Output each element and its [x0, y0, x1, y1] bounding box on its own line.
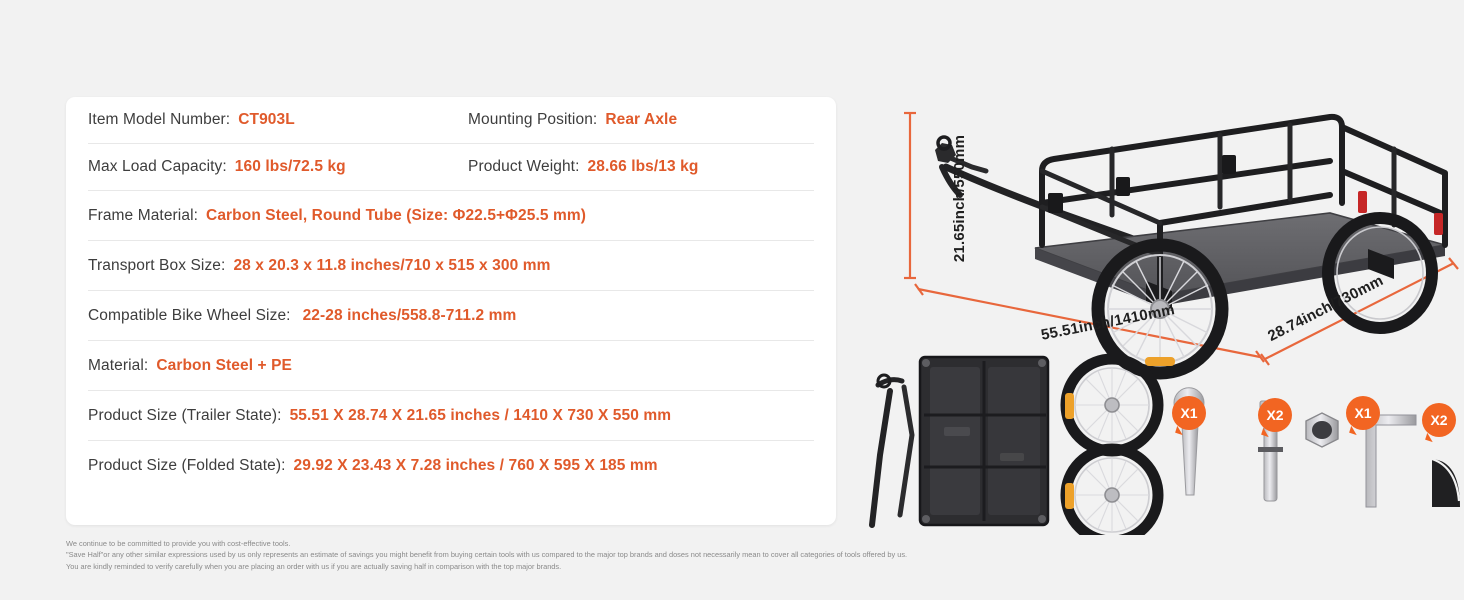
spec-row-product-size-folded-state: Product Size (Folded State): 29.92 X 23.…: [88, 441, 814, 490]
spec-row-compatible-bike-wheel-size: Compatible Bike Wheel Size: 22-28 inches…: [88, 291, 814, 341]
spec-row-dual: Max Load Capacity: 160 lbs/72.5 kg Produ…: [88, 144, 814, 191]
quantity-badge-mudguard: X2: [1422, 403, 1456, 437]
specification-card: Item Model Number: CT903L Mounting Posit…: [66, 97, 836, 525]
spec-row-product-size-trailer-state: Product Size (Trailer State): 55.51 X 28…: [88, 391, 814, 441]
spec-label: Item Model Number:: [88, 111, 230, 129]
reflector-amber: [1145, 357, 1175, 366]
spec-cell-product-weight: Product Weight: 28.66 lbs/13 kg: [456, 144, 814, 191]
spec-row-dual: Item Model Number: CT903L Mounting Posit…: [88, 97, 814, 144]
spec-cell-item-model-number: Item Model Number: CT903L: [88, 97, 456, 144]
spec-cell-mounting-position: Mounting Position: Rear Axle: [456, 97, 814, 144]
accessory-mudguard: [1432, 459, 1460, 507]
folded-trailer: [872, 357, 1048, 525]
spec-label: Product Weight:: [468, 158, 580, 176]
disclaimer-line-3: You are kindly reminded to verify carefu…: [66, 561, 1406, 572]
spare-wheel-top: [1065, 359, 1158, 451]
reflector-red: [1358, 191, 1367, 213]
spec-value: CT903L: [238, 111, 295, 129]
disclaimer: We continue to be committed to provide y…: [66, 538, 1406, 572]
spec-label: Material:: [88, 357, 148, 375]
quantity-badge-hex-key: X1: [1346, 396, 1380, 430]
spec-value: 28 x 20.3 x 11.8 inches/710 x 515 x 300 …: [233, 257, 550, 275]
quantity-badge-bolt-and-nut: X2: [1258, 398, 1292, 432]
accessory-hex-key: [1366, 415, 1416, 507]
reflector-red: [1434, 213, 1443, 235]
spec-label: Frame Material:: [88, 207, 198, 225]
frame-bracket: [1116, 177, 1130, 196]
spec-value: Carbon Steel + PE: [156, 357, 292, 375]
spec-value: 160 lbs/72.5 kg: [235, 158, 346, 176]
spec-label: Max Load Capacity:: [88, 158, 227, 176]
spec-value: Rear Axle: [605, 111, 677, 129]
quantity-badge-wrench: X1: [1172, 396, 1206, 430]
dimension-label-height: 21.65inch/550mm: [951, 135, 968, 262]
folded-latch: [944, 427, 970, 436]
spec-row-transport-box-size: Transport Box Size: 28 x 20.3 x 11.8 inc…: [88, 241, 814, 291]
frame-bracket: [1048, 193, 1063, 213]
disclaimer-line-1: We continue to be committed to provide y…: [66, 538, 1406, 549]
spec-label: Product Size (Trailer State):: [88, 407, 282, 425]
spec-cell-max-load-capacity: Max Load Capacity: 160 lbs/72.5 kg: [88, 144, 456, 191]
spec-label: Transport Box Size:: [88, 257, 225, 275]
frame-bracket: [1222, 155, 1236, 174]
spec-row-frame-material: Frame Material: Carbon Steel, Round Tube…: [88, 191, 814, 241]
product-spec-page: Item Model Number: CT903L Mounting Posit…: [0, 0, 1464, 600]
dimension-arrow-height: [904, 113, 916, 278]
spec-value: 28.66 lbs/13 kg: [588, 158, 699, 176]
spec-value: 29.92 X 23.43 X 7.28 inches / 760 X 595 …: [294, 457, 658, 475]
spec-row-material: Material: Carbon Steel + PE: [88, 341, 814, 391]
spec-label: Compatible Bike Wheel Size:: [88, 307, 291, 325]
folded-latch: [1000, 453, 1024, 461]
spec-label: Product Size (Folded State):: [88, 457, 286, 475]
reflector-amber: [1065, 483, 1074, 509]
reflector-amber: [1065, 393, 1074, 419]
accessory-nut: [1306, 413, 1338, 447]
spec-value: 55.51 X 28.74 X 21.65 inches / 1410 X 73…: [290, 407, 672, 425]
spec-label: Mounting Position:: [468, 111, 597, 129]
spare-wheel-bottom: [1065, 449, 1158, 535]
disclaimer-line-2: "Save Half"or any other similar expressi…: [66, 549, 1406, 560]
spec-value: 22-28 inches/558.8-711.2 mm: [303, 307, 517, 325]
spec-value: Carbon Steel, Round Tube (Size: Φ22.5+Φ2…: [206, 207, 586, 225]
